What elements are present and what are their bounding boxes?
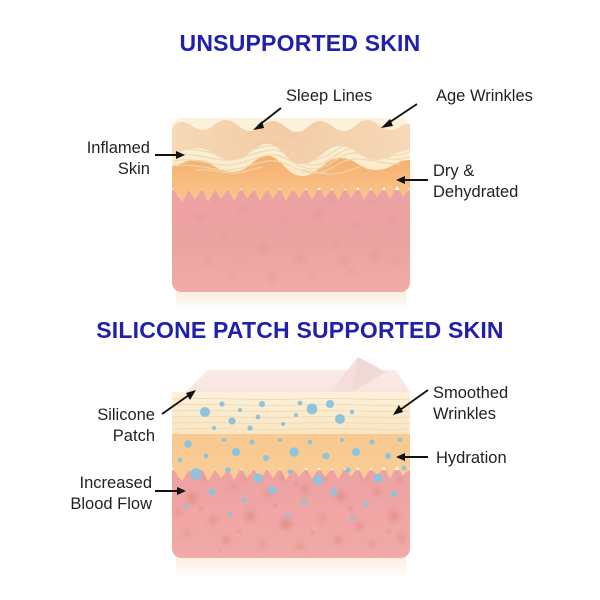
label-sleep-lines: Sleep Lines bbox=[286, 86, 372, 107]
label-age-wrinkles: Age Wrinkles bbox=[436, 86, 533, 107]
label-inflamed-skin: Inflamed Skin bbox=[0, 138, 150, 180]
unsupported-skin-block bbox=[172, 118, 411, 310]
supported-skin-block bbox=[172, 357, 410, 578]
top-dermis-lower bbox=[172, 190, 410, 292]
label-silicone-patch: Silicone Patch bbox=[0, 405, 155, 447]
label-increased-blood-flow: Increased Blood Flow bbox=[0, 473, 152, 515]
diagram-stage: UNSUPPORTED SKIN SILICONE PATCH SUPPORTE… bbox=[0, 0, 600, 600]
label-smoothed-wrinkles: Smoothed Wrinkles bbox=[433, 383, 508, 425]
label-dry-dehydrated: Dry & Dehydrated bbox=[433, 161, 518, 203]
label-hydration: Hydration bbox=[436, 448, 507, 469]
